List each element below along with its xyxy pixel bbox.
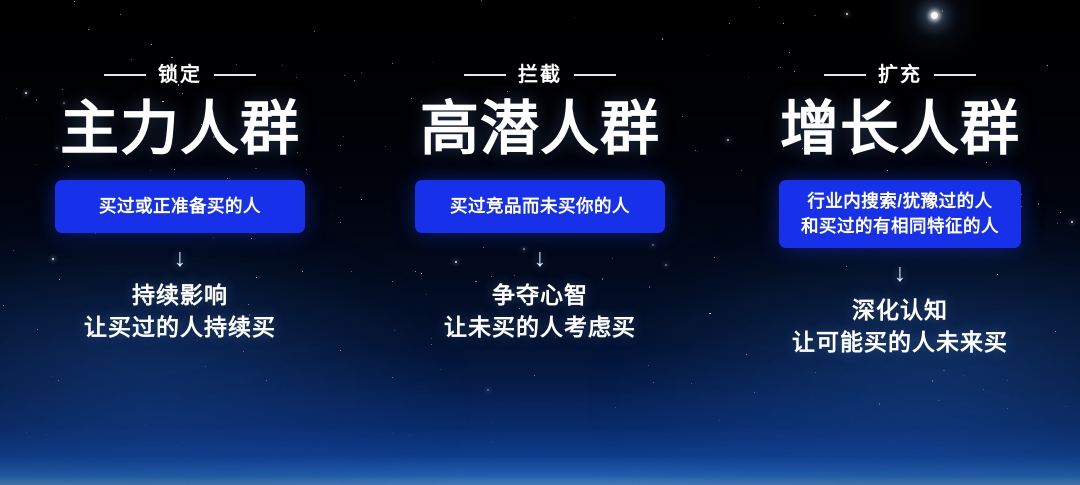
outcome-1: 持续影响 让买过的人持续买 <box>84 280 276 343</box>
outcome-line-detail: 让可能买的人未来买 <box>792 327 1008 359</box>
column-growth-audience: 扩充 增长人群 行业内搜索/犹豫过的人 和买过的有相同特征的人 ↓ 深化认知 让… <box>720 0 1080 485</box>
eyebrow-rule-right-icon <box>934 74 976 76</box>
eyebrow-2: 拦截 <box>464 62 616 88</box>
outcome-line-title: 持续影响 <box>84 280 276 312</box>
audience-strategy-columns: 锁定 主力人群 买过或正准备买的人 ↓ 持续影响 让买过的人持续买 拦截 高潜人… <box>0 0 1080 485</box>
eyebrow-3: 扩充 <box>824 62 976 88</box>
column-high-potential-audience: 拦截 高潜人群 买过竞品而未买你的人 ↓ 争夺心智 让未买的人考虑买 <box>360 0 720 485</box>
outcome-line-title: 深化认知 <box>792 295 1008 327</box>
outcome-line-title: 争夺心智 <box>444 280 636 312</box>
eyebrow-rule-left-icon <box>464 74 506 76</box>
headline-2: 高潜人群 <box>420 98 660 161</box>
definition-chip-line: 买过竞品而未买你的人 <box>435 194 645 219</box>
eyebrow-label-3: 扩充 <box>878 65 922 85</box>
definition-chip-line: 和买过的有相同特征的人 <box>795 214 1005 239</box>
down-arrow-icon-3: ↓ <box>894 261 907 286</box>
eyebrow-label-2: 拦截 <box>518 65 562 85</box>
outcome-line-detail: 让未买的人考虑买 <box>444 312 636 344</box>
eyebrow-rule-left-icon <box>104 74 146 76</box>
eyebrow-rule-right-icon <box>214 74 256 76</box>
eyebrow-rule-right-icon <box>574 74 616 76</box>
headline-3: 增长人群 <box>780 98 1020 161</box>
definition-chip-line: 买过或正准备买的人 <box>75 194 285 219</box>
down-arrow-icon-2: ↓ <box>534 246 547 271</box>
eyebrow-label-1: 锁定 <box>158 65 202 85</box>
headline-1: 主力人群 <box>60 98 300 161</box>
eyebrow-rule-left-icon <box>824 74 866 76</box>
definition-chip-1: 买过或正准备买的人 <box>55 180 305 233</box>
outcome-3: 深化认知 让可能买的人未来买 <box>792 295 1008 358</box>
definition-chip-2: 买过竞品而未买你的人 <box>415 180 665 233</box>
outcome-2: 争夺心智 让未买的人考虑买 <box>444 280 636 343</box>
eyebrow-1: 锁定 <box>104 62 256 88</box>
definition-chip-line: 行业内搜索/犹豫过的人 <box>795 189 1005 214</box>
definition-chip-3: 行业内搜索/犹豫过的人 和买过的有相同特征的人 <box>779 180 1021 249</box>
outcome-line-detail: 让买过的人持续买 <box>84 312 276 344</box>
column-core-audience: 锁定 主力人群 买过或正准备买的人 ↓ 持续影响 让买过的人持续买 <box>0 0 360 485</box>
down-arrow-icon-1: ↓ <box>174 246 187 271</box>
slide-canvas: 锁定 主力人群 买过或正准备买的人 ↓ 持续影响 让买过的人持续买 拦截 高潜人… <box>0 0 1080 485</box>
